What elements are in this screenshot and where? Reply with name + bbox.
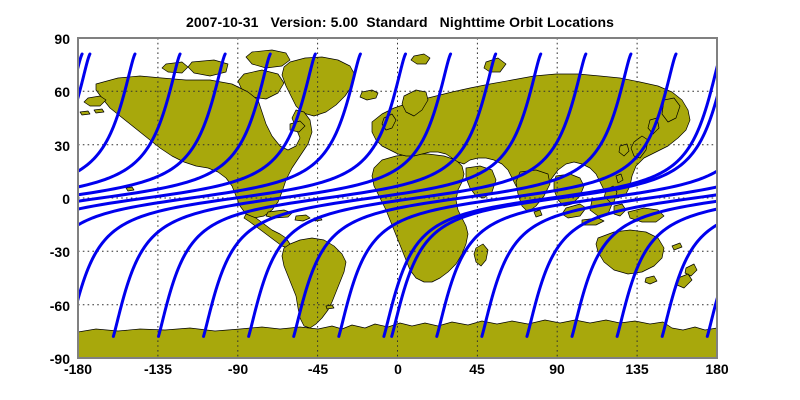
- land-hawaii: [126, 187, 134, 191]
- x-tick-label--135: -135: [128, 361, 188, 377]
- x-tick-label-45: 45: [447, 361, 507, 377]
- x-tick-label-90: 90: [527, 361, 587, 377]
- land-aleutian-2: [94, 109, 104, 113]
- y-tick-label-90: 90: [28, 31, 70, 47]
- orbit-map-figure: 2007-10-31 Version: 5.00 Standard Nightt…: [0, 0, 800, 400]
- land-aleutian-1: [80, 111, 90, 115]
- y-tick-label-60: 60: [28, 84, 70, 100]
- orbit-track: [752, 274, 770, 336]
- world-map-plot: [0, 0, 800, 400]
- x-tick-label-180: 180: [687, 361, 747, 377]
- x-tick-label--180: -180: [48, 361, 108, 377]
- x-tick-label-0: 0: [368, 361, 428, 377]
- land-falklands: [326, 305, 334, 309]
- y-tick-label-0: 0: [28, 191, 70, 207]
- y-tick-label--60: -60: [28, 298, 70, 314]
- x-tick-label--90: -90: [208, 361, 268, 377]
- y-tick-label-30: 30: [28, 138, 70, 154]
- x-tick-label--45: -45: [288, 361, 348, 377]
- y-tick-label--30: -30: [28, 244, 70, 260]
- x-tick-label-135: 135: [607, 361, 667, 377]
